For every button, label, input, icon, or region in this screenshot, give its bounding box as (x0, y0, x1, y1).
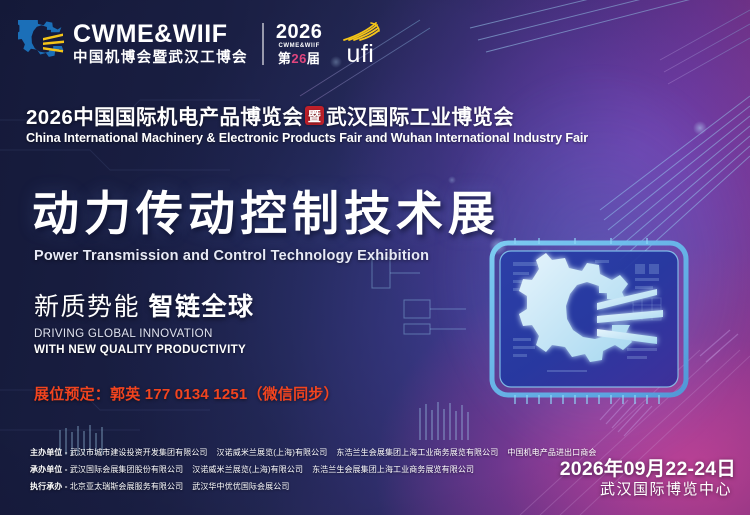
footer-label-host: 主办单位 - (30, 448, 68, 457)
footer-org: 武汉市城市建设投资开发集团有限公司 (70, 448, 208, 457)
ufi-logo[interactable]: ufi (338, 21, 382, 67)
edition-count: 26 (291, 51, 306, 66)
footer-label-executor: 执行承办 - (30, 482, 68, 491)
edition-subtitle: CWME&WIIF (278, 42, 319, 51)
edition-suffix: 届 (307, 51, 321, 66)
chip-gear-svg (487, 238, 691, 406)
footer-org: 武汉国际会展集团股份有限公司 (70, 465, 183, 474)
chip-gear-illustration (487, 238, 691, 406)
page-subtitle-en: Power Transmission and Control Technolog… (34, 248, 429, 264)
footer-org: 北京亚太瑞斯会展服务有限公司 (70, 482, 183, 491)
footer-org: 汉诺威米兰展览(上海)有限公司 (217, 448, 328, 457)
slogan-en-line1: DRIVING GLOBAL INNOVATION (34, 327, 213, 340)
logo-divider (262, 23, 264, 65)
slogan-cn-bold: 智链全球 (148, 293, 254, 321)
footer-line-host: 主办单位 - 武汉市城市建设投资开发集团有限公司汉诺威米兰展览(上海)有限公司东… (30, 444, 575, 461)
footer-label-organizer: 承办单位 - (30, 465, 68, 474)
fair-title-cn-part2: 武汉国际工业博览会 (326, 100, 514, 130)
footer-org: 东浩兰生会展集团上海工业商务展览有限公司 (336, 448, 498, 457)
exhibition-poster: CWME&WIIF 中国机博会暨武汉工博会 2026 CWME&WIIF 第26… (0, 0, 750, 515)
edition-block: 2026 CWME&WIIF 第26届 (276, 22, 323, 66)
fair-title-en: China International Machinery & Electron… (26, 131, 588, 145)
event-venue: 武汉国际博览中心 (600, 478, 732, 499)
edition-number: 第26届 (278, 51, 321, 66)
footer-org: 武汉华中优优国际会展公司 (192, 482, 289, 491)
footer-line-organizer: 承办单位 - 武汉国际会展集团股份有限公司汉诺威米兰展览(上海)有限公司东浩兰生… (30, 461, 575, 478)
footer-line-executor: 执行承办 - 北京亚太瑞斯会展服务有限公司武汉华中优优国际会展公司 (30, 478, 575, 495)
organizer-footer: 主办单位 - 武汉市城市建设投资开发集团有限公司汉诺威米兰展览(上海)有限公司东… (30, 444, 575, 495)
edition-year: 2026 (276, 22, 323, 42)
fair-title-badge: 暨 (305, 106, 324, 125)
slogan-cn-light: 新质势能 (34, 293, 140, 321)
ufi-swoosh-icon (338, 22, 382, 42)
edition-prefix: 第 (278, 51, 292, 66)
event-date: 2026年09月22-24日 (560, 452, 736, 481)
ufi-label: ufi (346, 42, 374, 66)
footer-org: 汉诺威米兰展览(上海)有限公司 (192, 465, 303, 474)
fair-title-cn: 2026中国国际机电产品博览会 暨 武汉国际工业博览会 (26, 100, 514, 130)
slogan-cn: 新质势能 智链全球 (34, 287, 254, 323)
footer-org: 东浩兰生会展集团上海工业商务展览有限公司 (312, 465, 474, 474)
brand-text: CWME&WIIF 中国机博会暨武汉工博会 (73, 22, 248, 67)
booth-contact-text[interactable]: 展位预定：郭英 177 0134 1251（微信同步） (34, 383, 339, 404)
gear-speedlines-icon (18, 20, 66, 68)
brand-name-cn: 中国机博会暨武汉工博会 (73, 49, 248, 67)
slogan-en-line2: WITH NEW QUALITY PRODUCTIVITY (34, 343, 246, 356)
brand-logo-bar[interactable]: CWME&WIIF 中国机博会暨武汉工博会 2026 CWME&WIIF 第26… (18, 18, 382, 70)
brand-name-en: CWME&WIIF (73, 22, 248, 47)
fair-title-cn-part1: 2026中国国际机电产品博览会 (26, 100, 303, 130)
page-title: 动力传动控制技术展 (32, 175, 500, 244)
